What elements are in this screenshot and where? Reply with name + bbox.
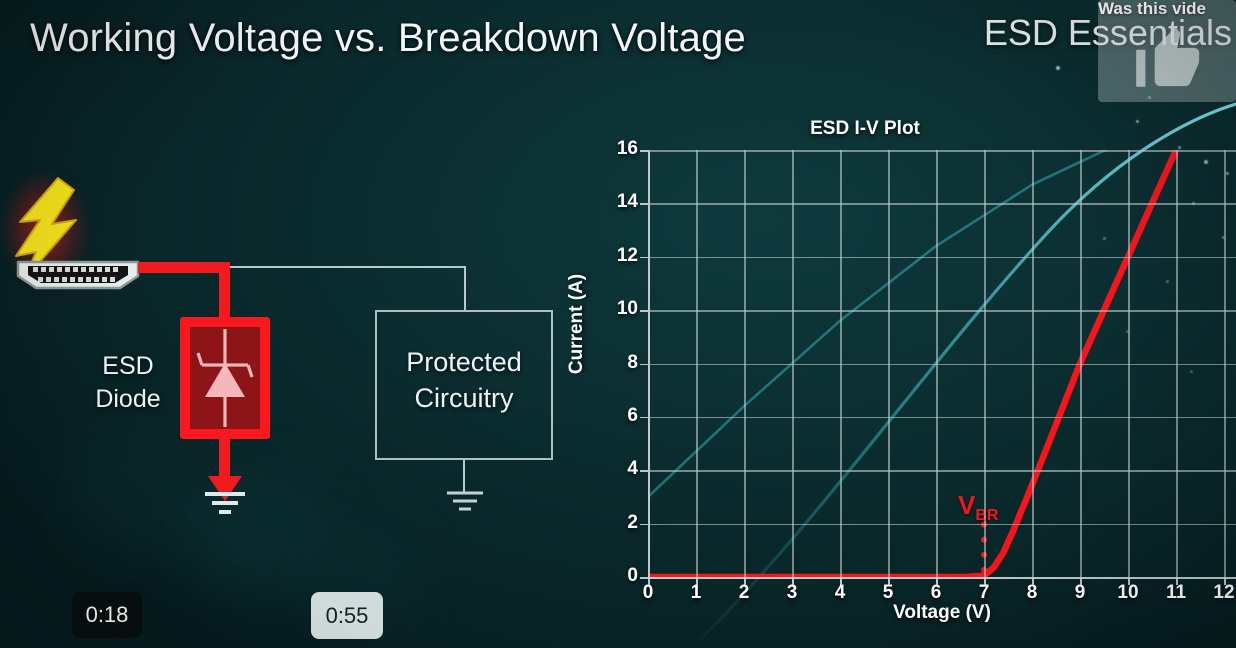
survey-question-text: Was this vide	[1098, 0, 1236, 19]
surge-wire-horizontal	[138, 262, 230, 273]
chart-y-axis-label: Current (A)	[566, 274, 588, 374]
protected-circuitry-label: Protected Circuitry	[375, 345, 553, 417]
chart-y-tickmark	[640, 257, 648, 259]
chart-gridline-horizontal	[648, 577, 1236, 579]
esd-diode-block	[180, 317, 270, 439]
chart-gridline-horizontal	[648, 524, 1236, 526]
chart-y-tickmark	[640, 524, 648, 526]
survey-overlay-card[interactable]: Was this vide	[1098, 0, 1236, 102]
protected-ground-wire	[463, 460, 465, 492]
protected-circuitry-label-line1: Protected	[375, 345, 553, 381]
chart-gridline-horizontal	[648, 310, 1236, 312]
chart-x-tick-label: 4	[820, 582, 860, 604]
chart-y-tick-label: 6	[602, 405, 638, 427]
ground-symbol-icon	[199, 490, 251, 516]
chart-gridline-horizontal	[648, 203, 1236, 205]
chart-x-tick-label: 12	[1204, 582, 1236, 604]
ground-symbol-icon	[444, 490, 486, 512]
chart-y-tickmark	[640, 417, 648, 419]
chart-y-tick-label: 4	[602, 458, 638, 480]
breakdown-voltage-annotation: VBR	[958, 490, 998, 525]
chart-x-tick-label: 3	[772, 582, 812, 604]
chart-gridline-horizontal	[648, 470, 1236, 472]
chart-y-tick-label: 16	[602, 138, 638, 160]
chart-gridline-horizontal	[648, 364, 1236, 366]
chart-y-tick-label: 8	[602, 352, 638, 374]
esd-diode-label-line1: ESD	[80, 350, 176, 383]
chart-y-tick-label: 0	[602, 565, 638, 587]
chart-gridline-horizontal	[648, 257, 1236, 259]
chart-x-tick-label: 11	[1156, 582, 1196, 604]
chart-y-tick-label: 10	[602, 298, 638, 320]
chart-x-tick-label: 8	[1012, 582, 1052, 604]
breakdown-voltage-subscript: BR	[975, 507, 998, 524]
signal-wire-horizontal	[228, 266, 466, 268]
surge-wire-vertical	[219, 262, 230, 324]
particle-dot	[1056, 66, 1060, 70]
circuit-diagram: ESD Diode Protected Circuitry	[0, 150, 600, 570]
page-title: Working Voltage vs. Breakdown Voltage	[30, 16, 746, 61]
chart-gridline-horizontal	[648, 150, 1236, 152]
chart-x-tick-label: 2	[724, 582, 764, 604]
esd-diode-label: ESD Diode	[80, 350, 176, 416]
breakdown-voltage-symbol: V	[958, 490, 975, 520]
chart-y-tickmark	[640, 203, 648, 205]
elapsed-time-badge[interactable]: 0:18	[72, 592, 142, 638]
chart-x-tick-label: 7	[964, 582, 1004, 604]
hdmi-connector-icon	[14, 256, 142, 292]
chart-x-tick-label: 5	[868, 582, 908, 604]
chart-plot-area: VBR 01234567891011120246810121416	[648, 150, 1236, 577]
chart-y-tickmark	[640, 150, 648, 152]
esd-diode-label-line2: Diode	[80, 383, 176, 416]
protected-circuitry-label-line2: Circuitry	[375, 381, 553, 417]
tvs-diode-icon	[190, 327, 260, 429]
chart-x-tick-label: 1	[676, 582, 716, 604]
chart-y-tick-label: 12	[602, 245, 638, 267]
slide-canvas: Working Voltage vs. Breakdown Voltage ES…	[0, 0, 1236, 648]
chart-gridline-horizontal	[648, 417, 1236, 419]
duration-time-badge[interactable]: 0:55	[311, 592, 383, 639]
chart-y-tickmark	[640, 577, 648, 579]
chart-x-tick-label: 9	[1060, 582, 1100, 604]
chart-y-tick-label: 2	[602, 512, 638, 534]
chart-x-tick-label: 10	[1108, 582, 1148, 604]
chart-x-tick-label: 6	[916, 582, 956, 604]
chart-x-axis-label: Voltage (V)	[648, 602, 1236, 624]
signal-wire-vertical	[464, 266, 466, 312]
chart-y-tickmark	[640, 364, 648, 366]
thumbs-up-icon[interactable]	[1130, 22, 1204, 96]
chart-y-tickmark	[640, 310, 648, 312]
chart-y-tick-label: 14	[602, 191, 638, 213]
chart-title: ESD I-V Plot	[580, 118, 1150, 140]
esd-iv-chart: ESD I-V Plot Current (A) Voltage (V) VBR…	[580, 108, 1236, 648]
chart-y-tickmark	[640, 470, 648, 472]
